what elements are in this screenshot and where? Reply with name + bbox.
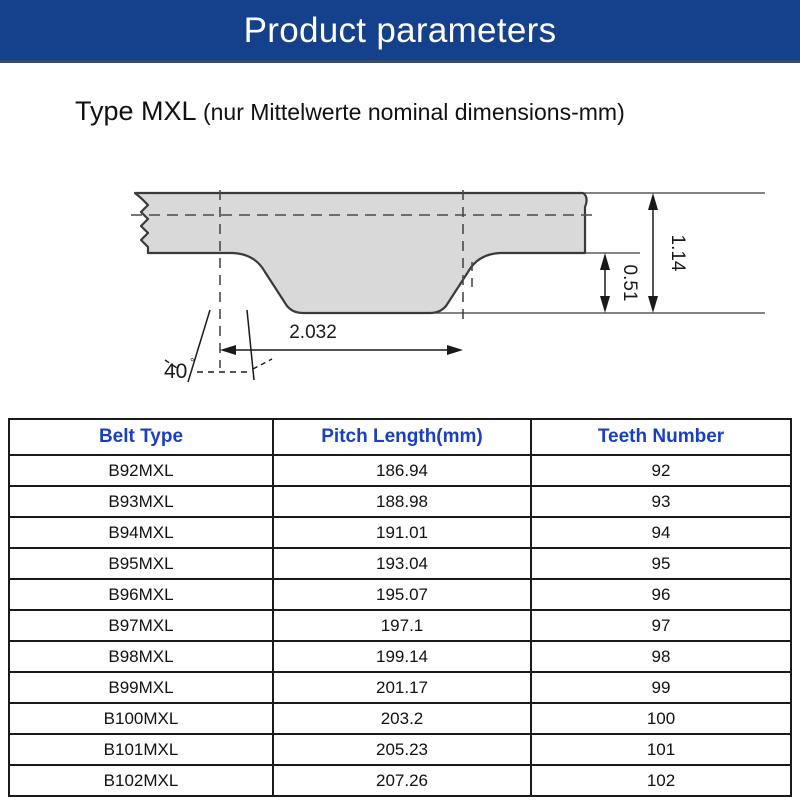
cell-teeth-number: 98: [531, 641, 791, 672]
angle-arc-right: [253, 359, 272, 369]
cell-pitch-length: 199.14: [273, 641, 531, 672]
angle-label: 40: [164, 360, 187, 383]
tooth-height-label: 0.51: [619, 265, 640, 302]
cell-teeth-number: 95: [531, 548, 791, 579]
cell-teeth-number: 97: [531, 610, 791, 641]
pitch-dimension: 2.032: [220, 322, 463, 355]
cell-belt-type: B92MXL: [9, 455, 273, 486]
cell-belt-type: B98MXL: [9, 641, 273, 672]
cell-belt-type: B95MXL: [9, 548, 273, 579]
cell-belt-type: B93MXL: [9, 486, 273, 517]
section-subtitle: Type MXL (nur Mittelwerte nominal dimens…: [75, 98, 625, 125]
pitch-dimension-label: 2.032: [289, 322, 337, 343]
column-header-pitch-length: Pitch Length(mm): [273, 419, 531, 455]
cell-teeth-number: 99: [531, 672, 791, 703]
table-row: B97MXL 197.1 97: [9, 610, 791, 641]
cell-pitch-length: 186.94: [273, 455, 531, 486]
table-header-row: Belt Type Pitch Length(mm) Teeth Number: [9, 419, 791, 455]
page-title: Product parameters: [244, 13, 557, 48]
table-row: B99MXL 201.17 99: [9, 672, 791, 703]
cell-teeth-number: 102: [531, 765, 791, 796]
page-header-banner: Product parameters: [0, 0, 800, 60]
subtitle-note: (nur Mittelwerte nominal dimensions-mm): [197, 99, 625, 125]
thickness-arrow-bottom: [648, 296, 658, 313]
table-row: B100MXL 203.2 100: [9, 703, 791, 734]
cell-teeth-number: 94: [531, 517, 791, 548]
cell-pitch-length: 195.07: [273, 579, 531, 610]
cell-belt-type: B94MXL: [9, 517, 273, 548]
thickness-arrow-top: [648, 193, 658, 210]
cell-belt-type: B97MXL: [9, 610, 273, 641]
table-row: B93MXL 188.98 93: [9, 486, 791, 517]
angle-degree-symbol: °: [190, 357, 194, 369]
cell-pitch-length: 188.98: [273, 486, 531, 517]
cell-belt-type: B96MXL: [9, 579, 273, 610]
cell-pitch-length: 201.17: [273, 672, 531, 703]
cell-belt-type: B99MXL: [9, 672, 273, 703]
pitch-arrow-left: [220, 345, 236, 355]
column-header-teeth-number: Teeth Number: [531, 419, 791, 455]
cell-pitch-length: 203.2: [273, 703, 531, 734]
cell-pitch-length: 205.23: [273, 734, 531, 765]
cell-teeth-number: 100: [531, 703, 791, 734]
cell-pitch-length: 197.1: [273, 610, 531, 641]
table-row: B94MXL 191.01 94: [9, 517, 791, 548]
pitch-arrow-right: [447, 345, 463, 355]
banner-underline: [0, 60, 800, 63]
belt-parameters-table: Belt Type Pitch Length(mm) Teeth Number …: [8, 418, 792, 797]
cell-teeth-number: 93: [531, 486, 791, 517]
table-row: B95MXL 193.04 95: [9, 548, 791, 579]
table-row: B102MXL 207.26 102: [9, 765, 791, 796]
cell-belt-type: B100MXL: [9, 703, 273, 734]
cell-pitch-length: 191.01: [273, 517, 531, 548]
tooth-height-dimension: 0.51: [600, 253, 640, 313]
flank-line-right: [247, 310, 254, 380]
table-row: B96MXL 195.07 96: [9, 579, 791, 610]
table-row: B101MXL 205.23 101: [9, 734, 791, 765]
tooth-height-arrow-bottom: [600, 296, 610, 313]
cell-teeth-number: 101: [531, 734, 791, 765]
total-thickness-dimension: 1.14: [648, 193, 688, 313]
cell-teeth-number: 96: [531, 579, 791, 610]
cell-pitch-length: 193.04: [273, 548, 531, 579]
cell-belt-type: B102MXL: [9, 765, 273, 796]
table-row: B98MXL 199.14 98: [9, 641, 791, 672]
belt-profile-diagram: 40 ° 2.032 1.14 0.51: [0, 150, 800, 400]
flank-line-left: [188, 310, 210, 382]
cell-belt-type: B101MXL: [9, 734, 273, 765]
subtitle-type: Type MXL: [75, 96, 197, 126]
column-header-belt-type: Belt Type: [9, 419, 273, 455]
cell-pitch-length: 207.26: [273, 765, 531, 796]
tooth-height-arrow-top: [600, 253, 610, 270]
cell-teeth-number: 92: [531, 455, 791, 486]
table-row: B92MXL 186.94 92: [9, 455, 791, 486]
total-thickness-label: 1.14: [667, 235, 688, 272]
